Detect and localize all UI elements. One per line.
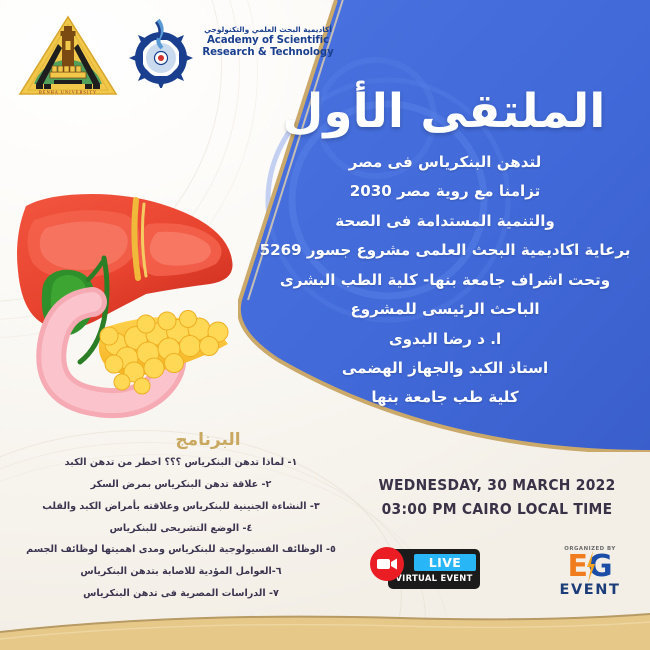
subtitle-line: استاذ الكبد والجهاز الهضمى bbox=[250, 354, 640, 383]
page-title: الملتقى الأول bbox=[250, 84, 638, 139]
benha-logo-caption: BENHA UNIVERSITY bbox=[39, 90, 97, 95]
program-item: ٦-العوامل المؤدية للاصابة بتدهن البنكريا… bbox=[8, 561, 354, 583]
subtitle-line: ا. د رضا البدوى bbox=[250, 325, 640, 354]
program-item: ٢- علاقة تدهن البنكرياس بمرض السكر bbox=[8, 474, 354, 496]
program-item: ٤- الوضع التشريحى للبنكرياس bbox=[8, 518, 354, 540]
live-label: LIVE bbox=[414, 554, 476, 571]
event-date: WEDNESDAY, 30 MARCH 2022 bbox=[366, 474, 628, 498]
lightning-bolt-icon bbox=[586, 551, 596, 583]
video-camera-icon bbox=[370, 547, 404, 581]
benha-university-logo: BENHA UNIVERSITY bbox=[16, 14, 120, 100]
eg-event-word: EVENT bbox=[540, 582, 640, 598]
subtitle-line: كلية طب جامعة بنها bbox=[250, 383, 640, 412]
subtitle-line: تزامنا مع روية مصر 2030 bbox=[250, 177, 640, 206]
subtitle-line: الباحث الرئيسى للمشروع bbox=[250, 295, 640, 324]
program-item: ٥- الوظائف الفسيولوجية للبنكرياس ومدى اه… bbox=[8, 539, 354, 561]
asrt-logo-emblem bbox=[122, 18, 200, 88]
program-list: ١- لماذا تدهن البنكرياس ؟؟؟ اخطر من تدهن… bbox=[8, 452, 354, 605]
subtitle-line: لتدهن البنكرياس فى مصر bbox=[250, 148, 640, 177]
organizer-logo: ORGANIZED BY EG EVENT bbox=[540, 546, 640, 600]
live-virtual-event-badge: LIVE VIRTUAL EVENT bbox=[370, 545, 482, 593]
blue-panel-text: الملتقى الأول لتدهن البنكرياس فى مصر تزا… bbox=[250, 0, 650, 452]
conference-poster: BENHA UNIVERSITY bbox=[0, 0, 650, 650]
event-datetime: WEDNESDAY, 30 MARCH 2022 03:00 PM CAIRO … bbox=[366, 474, 628, 522]
subtitle-line: والتنمية المستدامة فى الصحة bbox=[250, 207, 640, 236]
program-item: ١- لماذا تدهن البنكرياس ؟؟؟ اخطر من تدهن… bbox=[8, 452, 354, 474]
subtitle-line: برعاية اكاديمية البحث العلمى مشروع جسور … bbox=[250, 236, 640, 265]
program-item: ٣- النشاءة الجنينية للبنكرياس وعلاقته بأ… bbox=[8, 496, 354, 518]
subtitle-block: لتدهن البنكرياس فى مصر تزامنا مع روية مص… bbox=[250, 148, 640, 413]
bottom-gold-band bbox=[0, 598, 650, 650]
eg-letters: EG bbox=[540, 552, 640, 582]
event-time: 03:00 PM CAIRO LOCAL TIME bbox=[366, 498, 628, 522]
liver-pancreas-duodenum-illustration bbox=[0, 176, 276, 422]
subtitle-line: وتحت اشراف جامعة بنها- كلية الطب البشرى bbox=[250, 266, 640, 295]
program-heading: البرنامج bbox=[138, 430, 278, 450]
eg-letter-e: E bbox=[567, 549, 588, 584]
